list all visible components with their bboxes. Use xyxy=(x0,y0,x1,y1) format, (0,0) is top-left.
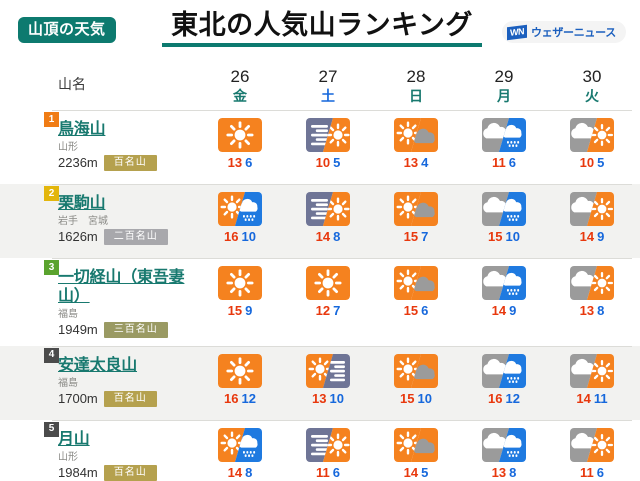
table-header-row: 山名 26 金 27 土 28 日 29 月 30 火 xyxy=(0,58,640,110)
mountain-elevation: 1700m xyxy=(58,391,98,406)
mountain-tag-badge: 三百名山 xyxy=(104,322,168,338)
temp-max: 14 xyxy=(576,391,590,406)
temp-max: 15 xyxy=(488,229,502,244)
mountain-prefecture: 岩手 宮城 xyxy=(58,216,190,228)
temp-max: 14 xyxy=(228,465,242,480)
mountain-elevation: 1949m xyxy=(58,322,98,337)
mountain-tag-badge: 二百名山 xyxy=(104,229,168,245)
mountain-name-link[interactable]: 月山 xyxy=(58,431,90,450)
sunny-then-cloudy-icon xyxy=(394,118,438,152)
temperature-range: 127 xyxy=(316,303,341,318)
column-header-day: 30 火 xyxy=(548,66,636,105)
temp-max: 11 xyxy=(316,465,330,480)
forecast-table: 山名 26 金 27 土 28 日 29 月 30 火 1 xyxy=(0,58,640,481)
forecast-cell[interactable]: 1612 xyxy=(460,346,548,420)
rank-badge: 5 xyxy=(44,422,59,437)
temp-min: 6 xyxy=(597,465,604,480)
forecast-cell[interactable]: 138 xyxy=(548,258,636,346)
temp-min: 8 xyxy=(245,465,252,480)
weather-ranking-page: 山頂の天気 東北の人気山ランキング WN ウェザーニュース 山名 26 金 27… xyxy=(0,0,640,481)
mountain-name-link[interactable]: 安達太良山 xyxy=(58,357,137,376)
forecast-cell[interactable]: 136 xyxy=(196,110,284,184)
sunny-icon xyxy=(218,118,262,152)
temp-min: 12 xyxy=(506,391,520,406)
temperature-range: 148 xyxy=(316,229,341,244)
cloudy-then-rain-icon xyxy=(482,266,526,300)
temp-min: 8 xyxy=(597,303,604,318)
temperature-range: 116 xyxy=(316,465,340,480)
forecast-cell[interactable]: 1610 xyxy=(196,184,284,258)
temperature-range: 116 xyxy=(580,465,604,480)
day-of-week: 月 xyxy=(460,87,548,105)
column-header-day: 29 月 xyxy=(460,66,548,105)
cloudy-then-sunny-icon xyxy=(570,266,614,300)
mountain-name-link[interactable]: 栗駒山 xyxy=(58,195,105,214)
column-header-name: 山名 xyxy=(0,66,196,94)
temp-min: 12 xyxy=(242,391,256,406)
mountain-prefecture: 山形 xyxy=(58,142,190,154)
forecast-cell[interactable]: 1510 xyxy=(460,184,548,258)
sunny-then-cloudy-icon xyxy=(394,428,438,462)
temp-max: 13 xyxy=(492,465,506,480)
forecast-cell[interactable]: 134 xyxy=(372,110,460,184)
day-number: 30 xyxy=(548,66,636,87)
temp-min: 5 xyxy=(333,155,340,170)
temp-min: 7 xyxy=(421,229,428,244)
temperature-range: 1310 xyxy=(312,391,344,406)
forecast-cell[interactable]: 148 xyxy=(196,420,284,481)
mountain-tag-badge: 百名山 xyxy=(104,155,157,171)
column-header-day: 27 土 xyxy=(284,66,372,105)
temperature-range: 1610 xyxy=(224,229,256,244)
temp-min: 6 xyxy=(509,155,516,170)
temp-min: 4 xyxy=(421,155,428,170)
weathernews-logo[interactable]: WN ウェザーニュース xyxy=(502,21,626,43)
temperature-range: 159 xyxy=(228,303,253,318)
temperature-range: 136 xyxy=(228,155,253,170)
mountain-meta: 1700m 百名山 xyxy=(58,391,190,407)
sunny-icon xyxy=(306,266,350,300)
forecast-cell[interactable]: 116 xyxy=(460,110,548,184)
temperature-range: 157 xyxy=(404,229,429,244)
temperature-range: 149 xyxy=(492,303,517,318)
table-row: 2 栗駒山 岩手 宮城 1626m 二百名山 1610 148 xyxy=(0,184,640,258)
temp-min: 8 xyxy=(509,465,516,480)
temp-min: 9 xyxy=(245,303,252,318)
temp-max: 11 xyxy=(580,465,594,480)
day-of-week: 金 xyxy=(196,87,284,105)
fog-then-sunny-icon xyxy=(306,428,350,462)
temperature-range: 138 xyxy=(492,465,517,480)
temperature-range: 148 xyxy=(228,465,253,480)
temp-max: 13 xyxy=(580,303,594,318)
sunny-then-cloudy-icon xyxy=(394,266,438,300)
day-number: 28 xyxy=(372,66,460,87)
day-of-week: 日 xyxy=(372,87,460,105)
forecast-cell[interactable]: 145 xyxy=(372,420,460,481)
temperature-range: 149 xyxy=(580,229,605,244)
temp-min: 10 xyxy=(242,229,256,244)
temperature-range: 1612 xyxy=(488,391,520,406)
category-badge: 山頂の天気 xyxy=(18,17,116,43)
mountain-prefecture: 福島 xyxy=(58,378,190,390)
temp-max: 16 xyxy=(224,229,238,244)
mountain-elevation: 1626m xyxy=(58,229,98,244)
mountain-prefecture: 山形 xyxy=(58,452,190,464)
sunny-then-rain-icon xyxy=(218,192,262,226)
temperature-range: 145 xyxy=(404,465,429,480)
forecast-cell[interactable]: 1612 xyxy=(196,346,284,420)
logo-text: ウェザーニュース xyxy=(531,24,616,40)
day-of-week: 土 xyxy=(284,87,372,105)
temp-min: 6 xyxy=(333,465,340,480)
temp-max: 13 xyxy=(312,391,326,406)
cloudy-then-sunny-icon xyxy=(570,428,614,462)
temp-min: 6 xyxy=(245,155,252,170)
forecast-cell[interactable]: 105 xyxy=(548,110,636,184)
temperature-range: 156 xyxy=(404,303,429,318)
mountain-meta: 1949m 三百名山 xyxy=(58,322,190,338)
mountain-cell: 1 鳥海山 山形 2236m 百名山 xyxy=(0,110,196,184)
temp-min: 5 xyxy=(597,155,604,170)
rank-badge: 3 xyxy=(44,260,59,275)
cloudy-then-rain-icon xyxy=(482,192,526,226)
forecast-cell[interactable]: 1510 xyxy=(372,346,460,420)
temperature-range: 1510 xyxy=(488,229,520,244)
forecast-cell[interactable]: 1310 xyxy=(284,346,372,420)
cloudy-then-rain-icon xyxy=(482,428,526,462)
temp-max: 12 xyxy=(316,303,330,318)
forecast-cell[interactable]: 116 xyxy=(548,420,636,481)
forecast-cell[interactable]: 116 xyxy=(284,420,372,481)
forecast-cell[interactable]: 157 xyxy=(372,184,460,258)
temp-max: 14 xyxy=(316,229,330,244)
temp-max: 14 xyxy=(404,465,418,480)
temp-min: 9 xyxy=(509,303,516,318)
mountain-tag-badge: 百名山 xyxy=(104,391,157,407)
sunny-icon xyxy=(218,354,262,388)
rank-badge: 4 xyxy=(44,348,59,363)
temperature-range: 1612 xyxy=(224,391,256,406)
cloudy-then-sunny-icon xyxy=(570,354,614,388)
mountain-cell: 4 安達太良山 福島 1700m 百名山 xyxy=(0,346,196,420)
day-number: 29 xyxy=(460,66,548,87)
mountain-tag-badge: 百名山 xyxy=(104,465,157,481)
table-row: 4 安達太良山 福島 1700m 百名山 1612 1310 xyxy=(0,346,640,420)
forecast-cell[interactable]: 127 xyxy=(284,258,372,346)
temp-min: 9 xyxy=(597,229,604,244)
temp-max: 10 xyxy=(316,155,330,170)
rank-badge: 1 xyxy=(44,112,59,127)
temp-max: 16 xyxy=(488,391,502,406)
table-row: 5 月山 山形 1984m 百名山 148 116 xyxy=(0,420,640,481)
sunny-then-fog-icon xyxy=(306,354,350,388)
forecast-cell[interactable]: 149 xyxy=(460,258,548,346)
forecast-cell[interactable]: 159 xyxy=(196,258,284,346)
sunny-then-rain-icon xyxy=(218,428,262,462)
temperature-range: 1510 xyxy=(400,391,432,406)
mountain-name-link[interactable]: 一切経山（東吾妻山） xyxy=(58,269,190,307)
page-title: 東北の人気山ランキング xyxy=(162,10,482,41)
forecast-cell[interactable]: 148 xyxy=(284,184,372,258)
column-header-day: 26 金 xyxy=(196,66,284,105)
cloudy-then-sunny-icon xyxy=(570,118,614,152)
mountain-name-link[interactable]: 鳥海山 xyxy=(58,121,105,140)
mountain-elevation: 2236m xyxy=(58,155,98,170)
cloudy-then-sunny-icon xyxy=(570,192,614,226)
temp-max: 14 xyxy=(492,303,506,318)
table-body: 1 鳥海山 山形 2236m 百名山 136 105 134 xyxy=(0,110,640,481)
cloudy-then-rain-icon xyxy=(482,354,526,388)
temp-min: 10 xyxy=(506,229,520,244)
sunny-icon xyxy=(218,266,262,300)
temp-max: 13 xyxy=(404,155,418,170)
day-of-week: 火 xyxy=(548,87,636,105)
temp-max: 15 xyxy=(400,391,414,406)
temperature-range: 138 xyxy=(580,303,605,318)
rank-badge: 2 xyxy=(44,186,59,201)
temperature-range: 134 xyxy=(404,155,429,170)
table-row: 1 鳥海山 山形 2236m 百名山 136 105 134 xyxy=(0,110,640,184)
mountain-elevation: 1984m xyxy=(58,465,98,480)
mountain-meta: 1626m 二百名山 xyxy=(58,229,190,245)
forecast-cell[interactable]: 105 xyxy=(284,110,372,184)
temp-max: 15 xyxy=(404,229,418,244)
temp-min: 10 xyxy=(330,391,344,406)
temp-max: 16 xyxy=(224,391,238,406)
mountain-prefecture: 福島 xyxy=(58,309,190,321)
temp-max: 15 xyxy=(404,303,418,318)
day-number: 26 xyxy=(196,66,284,87)
forecast-cell[interactable]: 1411 xyxy=(548,346,636,420)
temperature-range: 116 xyxy=(492,155,516,170)
forecast-cell[interactable]: 156 xyxy=(372,258,460,346)
title-underline-rule xyxy=(162,43,482,47)
sunny-then-cloudy-icon xyxy=(394,354,438,388)
sunny-then-cloudy-icon xyxy=(394,192,438,226)
mountain-meta: 2236m 百名山 xyxy=(58,155,190,171)
wn-logo-icon: WN xyxy=(507,24,527,39)
page-title-wrap: 東北の人気山ランキング xyxy=(162,10,482,47)
cloudy-then-rain-icon xyxy=(482,118,526,152)
mountain-cell: 2 栗駒山 岩手 宮城 1626m 二百名山 xyxy=(0,184,196,258)
temperature-range: 105 xyxy=(316,155,341,170)
temp-max: 15 xyxy=(228,303,242,318)
mountain-cell: 3 一切経山（東吾妻山） 福島 1949m 三百名山 xyxy=(0,258,196,346)
temp-max: 11 xyxy=(492,155,506,170)
column-header-day: 28 日 xyxy=(372,66,460,105)
fog-then-sunny-icon xyxy=(306,192,350,226)
day-number: 27 xyxy=(284,66,372,87)
temp-min: 7 xyxy=(333,303,340,318)
mountain-cell: 5 月山 山形 1984m 百名山 xyxy=(0,420,196,481)
temp-min: 11 xyxy=(594,391,608,406)
fog-then-sunny-icon xyxy=(306,118,350,152)
temp-min: 5 xyxy=(421,465,428,480)
table-row: 3 一切経山（東吾妻山） 福島 1949m 三百名山 159 127 156 xyxy=(0,258,640,346)
temp-min: 8 xyxy=(333,229,340,244)
forecast-cell[interactable]: 138 xyxy=(460,420,548,481)
mountain-meta: 1984m 百名山 xyxy=(58,465,190,481)
page-header: 山頂の天気 東北の人気山ランキング WN ウェザーニュース xyxy=(0,0,640,58)
temp-max: 14 xyxy=(580,229,594,244)
temp-max: 13 xyxy=(228,155,242,170)
temp-max: 10 xyxy=(580,155,594,170)
forecast-cell[interactable]: 149 xyxy=(548,184,636,258)
temp-min: 6 xyxy=(421,303,428,318)
temp-min: 10 xyxy=(418,391,432,406)
temperature-range: 105 xyxy=(580,155,605,170)
temperature-range: 1411 xyxy=(576,391,607,406)
